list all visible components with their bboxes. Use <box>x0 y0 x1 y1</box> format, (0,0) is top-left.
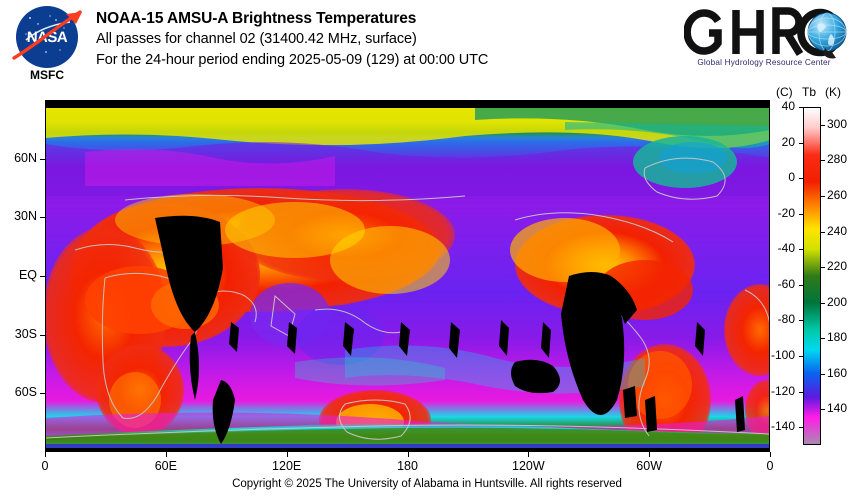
copyright-notice: Copyright © 2025 The University of Alaba… <box>0 478 854 490</box>
x-tick-mark <box>408 452 409 457</box>
colorbar-label-celsius: -120 <box>761 384 795 398</box>
colorbar-tick-kelvin <box>820 267 825 268</box>
x-tick-mark <box>45 452 46 457</box>
x-tick-mark <box>287 452 288 457</box>
colorbar-gradient <box>804 108 820 444</box>
page-title: NOAA-15 AMSU-A Brightness Temperatures <box>96 9 488 29</box>
x-tick-mark <box>528 452 529 457</box>
map-raster <box>45 100 770 452</box>
colorbar-label-celsius: -60 <box>761 277 795 291</box>
colorbar-tick-celsius <box>799 178 804 179</box>
colorbar-tick-kelvin <box>820 303 825 304</box>
title-block: NOAA-15 AMSU-A Brightness Temperatures A… <box>96 9 488 71</box>
colorbar-tick-celsius <box>799 285 804 286</box>
colorbar-label-celsius: -20 <box>761 206 795 220</box>
colorbar-tick-kelvin <box>820 125 825 126</box>
nasa-center-label: MSFC <box>8 68 86 82</box>
colorbar-tick-celsius <box>799 249 804 250</box>
colorbar-tick-kelvin <box>820 232 825 233</box>
colorbar-label-celsius: -40 <box>761 241 795 255</box>
x-tick-label: 60E <box>136 459 196 473</box>
colorbar-label-kelvin: 260 <box>827 188 854 202</box>
x-tick-mark <box>166 452 167 457</box>
x-tick-label: 120E <box>257 459 317 473</box>
x-tick-label: 60W <box>619 459 679 473</box>
ghrc-wordmark-icon <box>684 4 850 60</box>
ghrc-logo: Global Hydrology Resource Center <box>684 4 850 76</box>
colorbar-label-kelvin: 140 <box>827 401 854 415</box>
colorbar-tick-celsius <box>799 392 804 393</box>
colorbar-label-celsius: -140 <box>761 419 795 433</box>
y-tick-mark <box>40 159 45 160</box>
y-tick-label: 30N <box>0 209 37 223</box>
y-tick-mark <box>40 276 45 277</box>
nasa-swoosh-icon <box>10 10 84 64</box>
colorbar-tick-celsius <box>799 356 804 357</box>
colorbar-tick-kelvin <box>820 196 825 197</box>
colorbar-label-celsius: -100 <box>761 348 795 362</box>
colorbar-tick-kelvin <box>820 338 825 339</box>
y-tick-mark <box>40 217 45 218</box>
colorbar-label-kelvin: 240 <box>827 224 854 238</box>
colorbar-label-kelvin: 300 <box>827 117 854 131</box>
ghrc-tagline: Global Hydrology Resource Center <box>684 58 844 67</box>
colorbar-label-celsius: 40 <box>761 99 795 113</box>
colorbar-tick-celsius <box>799 427 804 428</box>
y-tick-mark <box>40 335 45 336</box>
x-tick-label: 120W <box>498 459 558 473</box>
x-tick-mark <box>649 452 650 457</box>
colorbar-label-tb: Tb <box>802 85 816 99</box>
brightness-temperature-map[interactable] <box>45 100 770 452</box>
colorbar-label-kelvin: 280 <box>827 152 854 166</box>
colorbar-label-kelvin: 200 <box>827 295 854 309</box>
colorbar-label-celsius: 20 <box>761 135 795 149</box>
colorbar-tick-celsius <box>799 214 804 215</box>
x-tick-label: 180 <box>378 459 438 473</box>
colorbar-label-kelvin: 220 <box>827 259 854 273</box>
colorbar-unit-right: (K) <box>825 85 841 99</box>
period-subtitle: For the 24-hour period ending 2025-05-09… <box>96 50 488 71</box>
x-tick-mark <box>770 452 771 457</box>
colorbar-tick-kelvin <box>820 160 825 161</box>
colorbar-label-kelvin: 160 <box>827 366 854 380</box>
colorbar[interactable] <box>803 107 821 445</box>
channel-subtitle: All passes for channel 02 (31400.42 MHz,… <box>96 29 488 50</box>
colorbar-tick-kelvin <box>820 409 825 410</box>
y-tick-label: 60S <box>0 385 37 399</box>
y-tick-label: 30S <box>0 327 37 341</box>
colorbar-tick-celsius <box>799 320 804 321</box>
y-tick-label: EQ <box>0 268 37 282</box>
colorbar-label-celsius: -80 <box>761 312 795 326</box>
colorbar-unit-left: (C) <box>776 85 793 99</box>
nasa-logo: NASA MSFC <box>8 6 86 84</box>
x-tick-label: 0 <box>15 459 75 473</box>
colorbar-label-celsius: 0 <box>761 170 795 184</box>
y-tick-mark <box>40 393 45 394</box>
colorbar-label-kelvin: 180 <box>827 330 854 344</box>
x-tick-label: 0 <box>740 459 800 473</box>
colorbar-tick-kelvin <box>820 374 825 375</box>
colorbar-tick-celsius <box>799 143 804 144</box>
visualization-page: NASA MSFC NOAA-15 AMSU-A Brightness Temp… <box>0 0 854 502</box>
y-tick-label: 60N <box>0 151 37 165</box>
colorbar-tick-celsius <box>799 107 804 108</box>
